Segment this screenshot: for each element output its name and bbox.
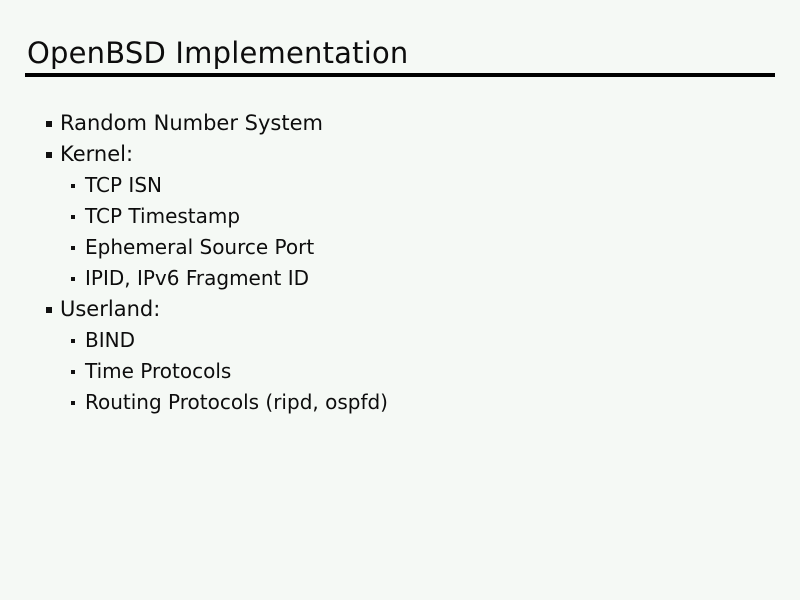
square-bullet-icon — [46, 152, 52, 158]
presentation-slide: OpenBSD Implementation Random Number Sys… — [0, 0, 800, 600]
list-item-label: BIND — [85, 325, 135, 356]
small-square-bullet-icon — [71, 370, 75, 374]
list-item: TCP ISN — [0, 170, 800, 201]
small-square-bullet-icon — [71, 215, 75, 219]
list-item: TCP Timestamp — [0, 201, 800, 232]
list-item: Kernel: — [0, 139, 800, 170]
list-item: Userland: — [0, 294, 800, 325]
list-item: BIND — [0, 325, 800, 356]
list-item: Random Number System — [0, 108, 800, 139]
small-square-bullet-icon — [71, 246, 75, 250]
list-item-label: TCP Timestamp — [85, 201, 240, 232]
list-item: IPID, IPv6 Fragment ID — [0, 263, 800, 294]
list-item: Ephemeral Source Port — [0, 232, 800, 263]
small-square-bullet-icon — [71, 339, 75, 343]
small-square-bullet-icon — [71, 184, 75, 188]
list-item-label: Userland: — [60, 294, 160, 325]
list-item-label: Time Protocols — [85, 356, 231, 387]
page-title: OpenBSD Implementation — [27, 36, 408, 70]
small-square-bullet-icon — [71, 401, 75, 405]
square-bullet-icon — [46, 307, 52, 313]
list-item-label: Routing Protocols (ripd, ospfd) — [85, 387, 388, 418]
list-item: Routing Protocols (ripd, ospfd) — [0, 387, 800, 418]
title-underline-rule — [25, 73, 775, 77]
square-bullet-icon — [46, 121, 52, 127]
list-item: Time Protocols — [0, 356, 800, 387]
bullet-list: Random Number System Kernel: TCP ISN TCP… — [0, 108, 800, 418]
list-item-label: IPID, IPv6 Fragment ID — [85, 263, 309, 294]
list-item-label: Ephemeral Source Port — [85, 232, 314, 263]
list-item-label: Random Number System — [60, 108, 323, 139]
list-item-label: TCP ISN — [85, 170, 162, 201]
small-square-bullet-icon — [71, 277, 75, 281]
list-item-label: Kernel: — [60, 139, 133, 170]
